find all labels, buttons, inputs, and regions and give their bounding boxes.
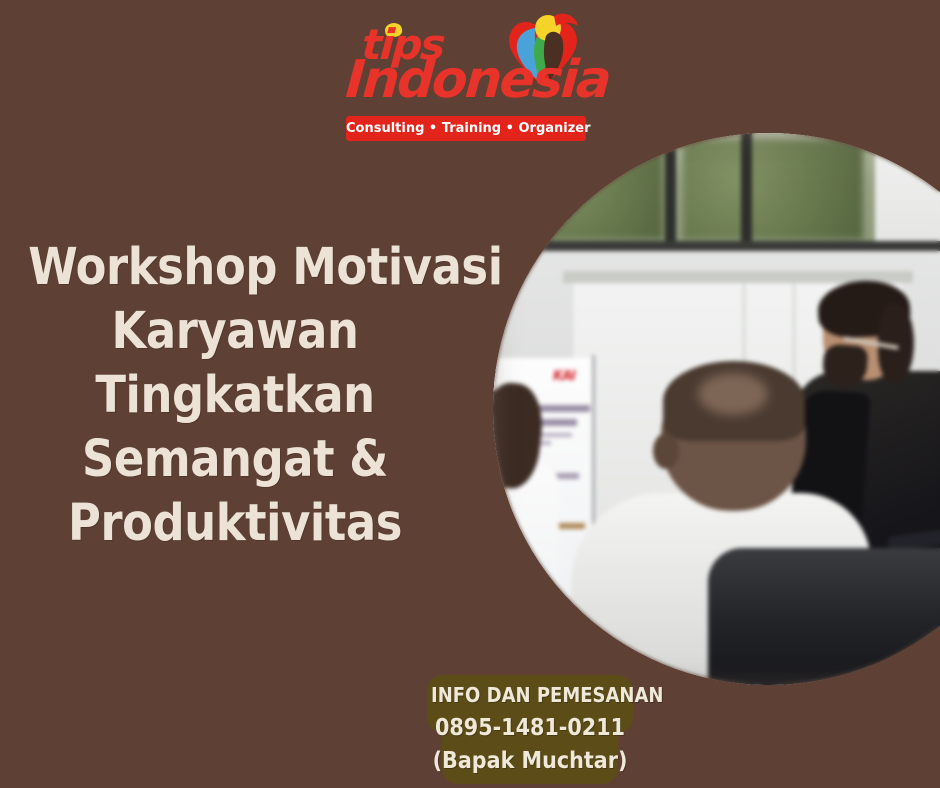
- window-mullion: [665, 133, 676, 245]
- contact-badge: INFO DAN PEMESANAN 0895-1481-0211 (Bapak…: [420, 670, 640, 788]
- brand-logo: tips Indonesia Consulting • Training • O…: [340, 6, 590, 138]
- headline-line-4: Semangat &: [28, 428, 442, 492]
- window-foliage: [513, 139, 663, 239]
- headline: Workshop Motivasi Karyawan Tingkatkan Se…: [0, 236, 470, 556]
- logo-word-indonesia: Indonesia: [344, 54, 611, 106]
- window-foliage: [683, 139, 863, 239]
- badge-contact-person: (Bapak Muchtar): [431, 745, 629, 778]
- window-right-wall: [875, 133, 940, 255]
- seated-attendee-ear: [653, 433, 679, 469]
- logo-tagline-bar: Consulting • Training • Organizer: [346, 116, 586, 141]
- badge-info-label: INFO DAN PEMESANAN: [431, 679, 629, 712]
- headline-line-1: Workshop Motivasi: [28, 236, 442, 300]
- workshop-photo-circle: KAI: [493, 133, 940, 685]
- seated-attendee-hair-highlight: [698, 373, 768, 415]
- badge-text-group: INFO DAN PEMESANAN 0895-1481-0211 (Bapak…: [420, 670, 640, 788]
- workshop-photo: KAI: [493, 133, 940, 685]
- chair-back: [708, 548, 940, 685]
- clerestory-window: [493, 133, 940, 251]
- banner-text-line: [555, 523, 585, 529]
- window-mullion: [493, 133, 504, 245]
- window-mullion: [741, 133, 752, 245]
- banner-kai-logo: KAI: [553, 369, 575, 384]
- headline-line-2: Karyawan: [28, 300, 442, 364]
- headline-line-3: Tingkatkan: [28, 364, 442, 428]
- logo-tagline-text: Consulting • Training • Organizer: [346, 121, 591, 136]
- badge-phone-number[interactable]: 0895-1481-0211: [431, 712, 629, 745]
- poster-canvas: KAI: [0, 0, 940, 788]
- headline-line-5: Produktivitas: [28, 492, 442, 556]
